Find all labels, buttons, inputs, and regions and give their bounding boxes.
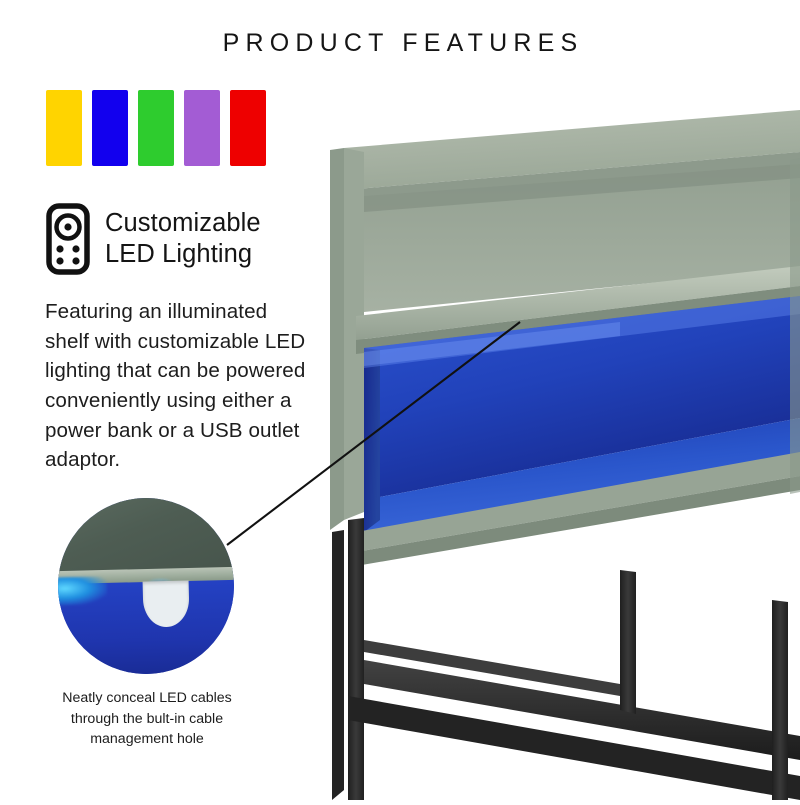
cable-hole-detail-circle (58, 498, 234, 674)
led-console-table-photo (320, 100, 800, 800)
swatch-red (230, 90, 266, 166)
feature-description: Featuring an illuminated shelf with cust… (45, 297, 307, 475)
swatch-purple (184, 90, 220, 166)
product-illustration (320, 100, 800, 800)
page-title: PRODUCT FEATURES (0, 29, 800, 58)
swatch-yellow (46, 90, 82, 166)
remote-control-icon (46, 203, 90, 275)
led-color-swatches (46, 90, 266, 166)
swatch-blue (92, 90, 128, 166)
swatch-green (138, 90, 174, 166)
detail-caption: Neatly conceal LED cables through the bu… (36, 688, 258, 750)
feature-heading-block: Customizable LED Lighting (46, 203, 261, 275)
feature-heading-text: Customizable LED Lighting (105, 208, 261, 270)
detail-led-glow (58, 576, 108, 606)
detail-shelf-top (58, 498, 234, 578)
infographic-canvas: PRODUCT FEATURES Customizable LED Lighti… (0, 0, 800, 800)
